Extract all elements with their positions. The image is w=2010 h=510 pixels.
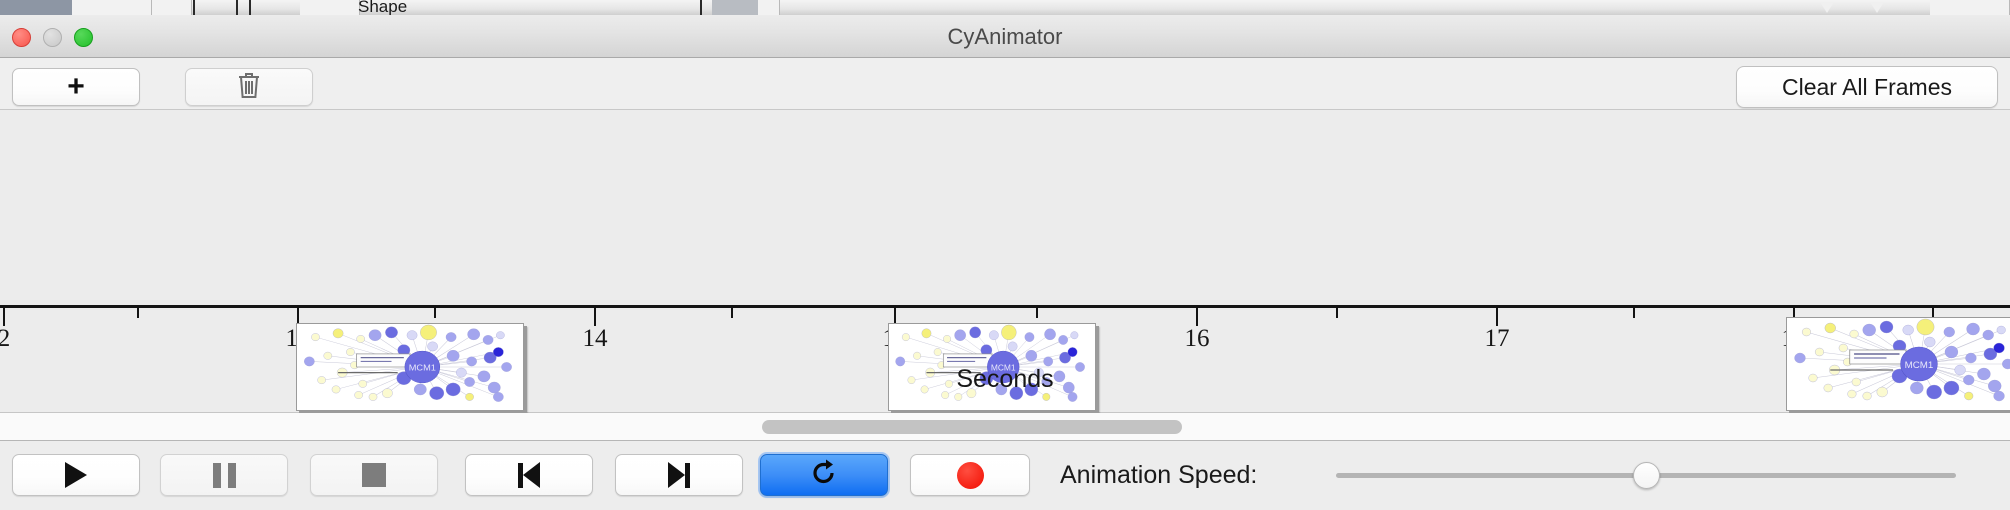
- timeline-tick: [1036, 308, 1038, 318]
- frame-thumbnail-3[interactable]: MCM1: [1786, 317, 2010, 411]
- timeline-tick-label: 16: [1185, 325, 1210, 353]
- trash-icon: [236, 70, 262, 105]
- window-title: CyAnimator: [0, 15, 2010, 58]
- loop-icon: [809, 458, 839, 493]
- timeline-tick: [1633, 308, 1635, 318]
- cyanimator-window: Shape CyAnimator +: [0, 0, 2010, 510]
- background-window-label: Shape: [358, 0, 407, 15]
- timeline-tick: [594, 308, 596, 326]
- timeline-tick: [1496, 308, 1498, 326]
- add-frame-button[interactable]: +: [12, 68, 140, 106]
- clear-all-frames-button[interactable]: Clear All Frames: [1736, 66, 1998, 108]
- pause-icon: [213, 463, 236, 488]
- timeline-panel[interactable]: 2131415161718 MCM1 MCM1 MCM: [0, 110, 2010, 413]
- record-button[interactable]: [910, 454, 1030, 496]
- record-icon: [957, 462, 984, 489]
- timeline-tick-label: 2: [0, 325, 10, 353]
- scrollbar-thumb[interactable]: [762, 420, 1182, 434]
- timeline-tick: [731, 308, 733, 318]
- plus-icon: +: [67, 72, 85, 102]
- animation-speed-label: Animation Speed:: [1060, 454, 1257, 496]
- timeline-tick: [434, 308, 436, 318]
- timeline-scrollbar[interactable]: [0, 413, 2010, 441]
- animation-speed-slider-handle[interactable]: [1633, 462, 1660, 489]
- loop-button[interactable]: [760, 454, 888, 496]
- timeline-tick-label: 14: [583, 325, 608, 353]
- stop-icon: [362, 463, 386, 487]
- clear-all-frames-label: Clear All Frames: [1782, 74, 1952, 101]
- skip-to-start-button[interactable]: [465, 454, 593, 496]
- timeline-tick: [137, 308, 139, 318]
- skip-forward-icon: [668, 462, 690, 488]
- timeline-tick: [1196, 308, 1198, 326]
- timeline-axis: [0, 305, 2010, 308]
- background-desktop-strip: Shape: [0, 0, 2010, 15]
- pause-button: [160, 454, 288, 496]
- toolbar: + Clear All Frames: [0, 58, 2010, 110]
- stop-button: [310, 454, 438, 496]
- skip-back-icon: [518, 462, 540, 488]
- play-button[interactable]: [12, 454, 140, 496]
- playback-controls: Animation Speed:: [0, 441, 2010, 510]
- timeline-tick: [1336, 308, 1338, 318]
- title-bar: CyAnimator: [0, 15, 2010, 58]
- timeline-tick: [3, 308, 5, 326]
- axis-caption: Seconds: [0, 365, 2010, 394]
- skip-to-end-button[interactable]: [615, 454, 743, 496]
- play-icon: [65, 462, 87, 488]
- timeline-tick-label: 17: [1485, 325, 1510, 353]
- delete-frame-button[interactable]: [185, 68, 313, 106]
